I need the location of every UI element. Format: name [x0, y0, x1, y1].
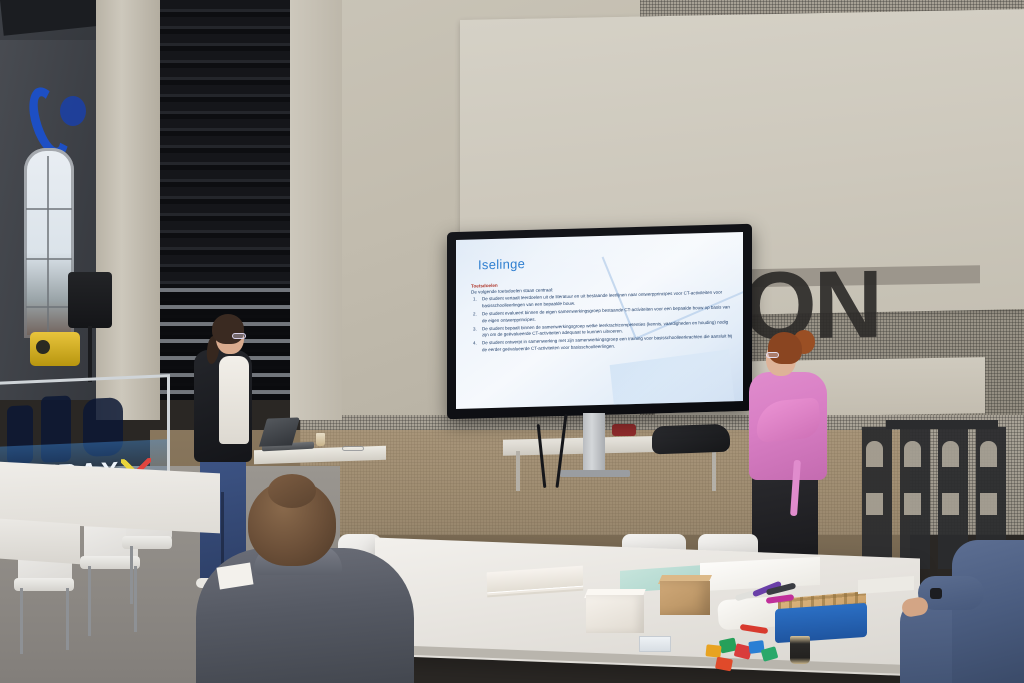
pa-speaker — [68, 272, 112, 328]
glasses-on-table — [342, 446, 364, 451]
paper-cup — [790, 636, 810, 664]
audience-center-hair-bun — [268, 474, 316, 508]
black-jacket-on-table — [652, 424, 730, 455]
slide-body: Toetsdoelen De volgende toetsdoelen staa… — [471, 276, 733, 355]
paper-cup-on-presenter-table — [316, 433, 325, 446]
concrete-pier-right — [290, 0, 342, 420]
display-screen-surface: Iselinge Toetsdoelen De volgende toetsdo… — [456, 232, 743, 409]
slide-title: Iselinge — [478, 256, 525, 272]
display-stand-foot — [560, 470, 630, 477]
blue-disc-fixture-icon — [60, 96, 86, 126]
presenter-left-shirt — [219, 356, 249, 444]
colored-plastic-shape — [705, 644, 721, 658]
room-photo-scene: ON STRAX — [0, 0, 1024, 683]
presenter-left-glasses-icon — [232, 333, 246, 339]
white-box — [586, 595, 644, 633]
yellow-machine — [30, 332, 80, 366]
presenter-left-hair — [212, 314, 244, 344]
red-item-on-table — [612, 424, 636, 436]
blue-pegboard-tray — [775, 603, 867, 643]
presenter-right-hair — [768, 332, 802, 364]
audience-right-torso — [952, 540, 1024, 683]
table-left-secondary — [0, 516, 80, 564]
small-clear-box — [639, 636, 671, 652]
concrete-pier-left — [96, 0, 160, 420]
arched-window — [24, 148, 74, 338]
cardboard-box — [660, 581, 710, 615]
slide-objectives-list: De student vertaalt leerdoelen uit de li… — [471, 289, 733, 354]
wall-display[interactable]: Iselinge Toetsdoelen De volgende toetsdo… — [447, 224, 752, 420]
slide-decoration-shape — [610, 349, 737, 409]
presenter-right-glasses-icon — [766, 352, 779, 358]
speaker-stand-pole — [88, 326, 92, 382]
wristwatch-icon — [930, 588, 942, 599]
display-pedestal-stand — [583, 413, 605, 475]
